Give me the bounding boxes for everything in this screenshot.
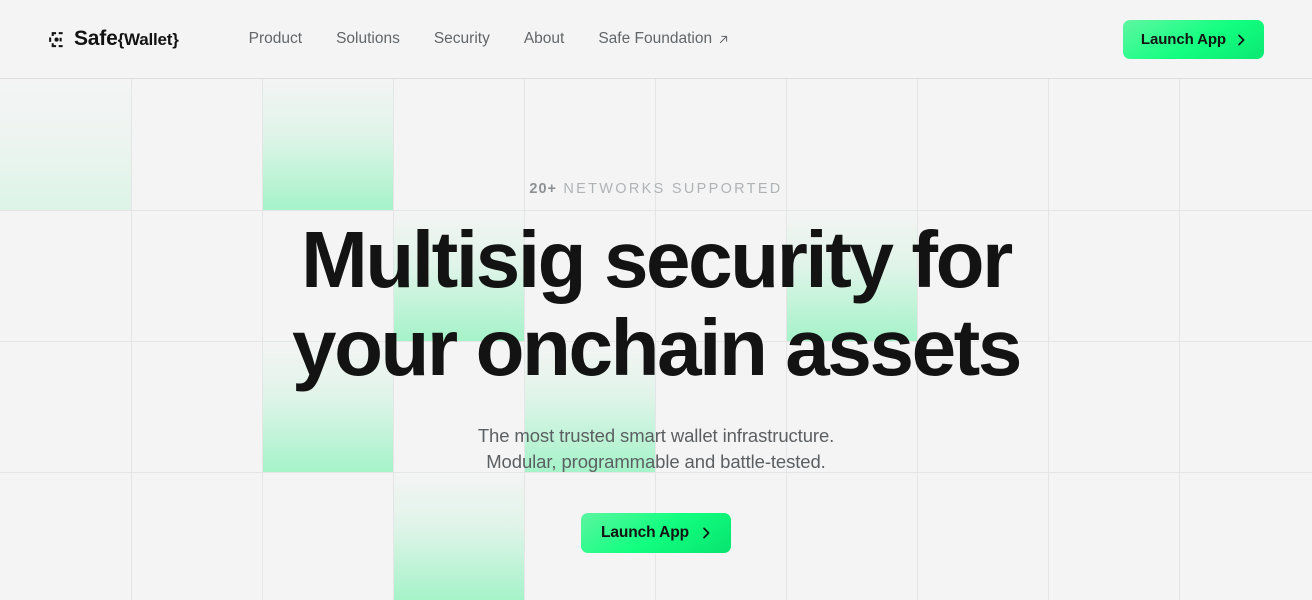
networks-count: 20+ bbox=[529, 181, 557, 197]
header-launch-app-button[interactable]: Launch App bbox=[1123, 20, 1264, 59]
nav-item-security[interactable]: Security bbox=[417, 22, 507, 56]
chevron-right-icon bbox=[1237, 34, 1246, 46]
networks-supported-eyebrow: 20+ NETWORKS SUPPORTED bbox=[529, 182, 782, 197]
grid-accent-cell bbox=[262, 341, 393, 472]
grid-line-vertical bbox=[917, 79, 918, 600]
arrow-up-right-icon bbox=[718, 34, 729, 45]
grid-accent-cell bbox=[262, 79, 393, 210]
brand-logo[interactable]: Safe{Wallet} bbox=[48, 27, 179, 51]
hero-section: 20+ NETWORKS SUPPORTED Multisig security… bbox=[0, 79, 1312, 600]
grid-line-vertical bbox=[393, 79, 394, 600]
hero-cta-wrapper: Launch App bbox=[581, 513, 731, 553]
grid-line-horizontal bbox=[0, 341, 1312, 342]
grid-line-horizontal bbox=[0, 210, 1312, 211]
nav-item-solutions[interactable]: Solutions bbox=[319, 22, 417, 56]
grid-accent-cell bbox=[393, 210, 524, 341]
headline-line-1: Multisig security for bbox=[292, 216, 1020, 304]
nav-label: Solutions bbox=[336, 30, 400, 48]
chevron-right-icon bbox=[702, 527, 711, 539]
hero-launch-app-button[interactable]: Launch App bbox=[581, 513, 731, 553]
header-launch-app-label: Launch App bbox=[1141, 31, 1226, 48]
grid-accent-cell bbox=[786, 210, 917, 341]
networks-label: NETWORKS SUPPORTED bbox=[563, 181, 782, 197]
grid-line-vertical bbox=[1179, 79, 1180, 600]
main-nav: Product Solutions Security About Safe Fo… bbox=[232, 22, 746, 56]
nav-label: Product bbox=[249, 30, 302, 48]
hero-headline: Multisig security for your onchain asset… bbox=[292, 216, 1020, 392]
subhead-line-2: Modular, programmable and battle-tested. bbox=[478, 449, 834, 475]
nav-item-product[interactable]: Product bbox=[232, 22, 319, 56]
nav-item-safe-foundation[interactable]: Safe Foundation bbox=[581, 22, 746, 56]
nav-item-about[interactable]: About bbox=[507, 22, 582, 56]
hero-launch-app-label: Launch App bbox=[601, 524, 689, 542]
hero-subheadline: The most trusted smart wallet infrastruc… bbox=[478, 423, 834, 475]
grid-line-horizontal bbox=[0, 472, 1312, 473]
hero-content: 20+ NETWORKS SUPPORTED Multisig security… bbox=[0, 79, 1312, 600]
nav-label: Security bbox=[434, 30, 490, 48]
grid-line-vertical bbox=[524, 79, 525, 600]
site-header: Safe{Wallet} Product Solutions Security … bbox=[0, 0, 1312, 79]
nav-label: About bbox=[524, 30, 565, 48]
safe-logo-icon bbox=[48, 31, 65, 48]
grid-line-vertical bbox=[786, 79, 787, 600]
nav-label: Safe Foundation bbox=[598, 30, 712, 48]
grid-line-vertical bbox=[131, 79, 132, 600]
headline-line-2: your onchain assets bbox=[292, 304, 1020, 392]
grid-line-vertical bbox=[262, 79, 263, 600]
grid-accent-cell bbox=[524, 341, 655, 472]
grid-accent-cell bbox=[0, 79, 131, 210]
brand-name: Safe{Wallet} bbox=[74, 27, 179, 51]
grid-accent-cell bbox=[393, 472, 524, 600]
subhead-line-1: The most trusted smart wallet infrastruc… bbox=[478, 423, 834, 449]
grid-line-vertical bbox=[1048, 79, 1049, 600]
